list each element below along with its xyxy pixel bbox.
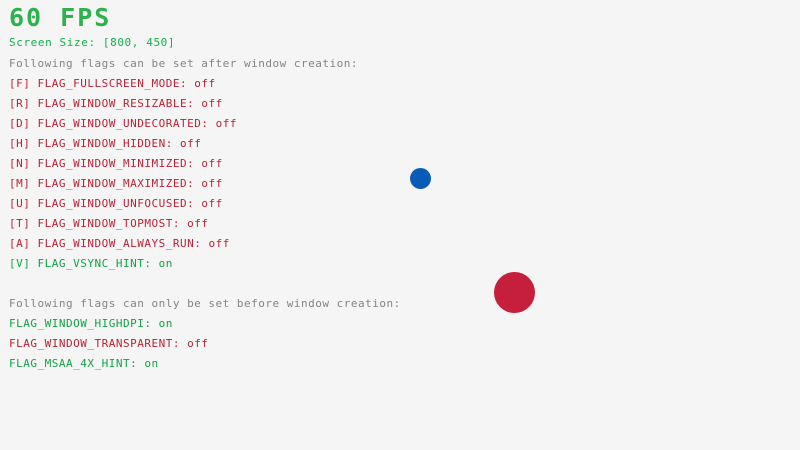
app-window: 60 FPS Screen Size: [800, 450] Following… <box>0 0 800 450</box>
flag-row[interactable]: [A] FLAG_WINDOW_ALWAYS_RUN: off <box>9 238 230 250</box>
flag-row[interactable]: [V] FLAG_VSYNC_HINT: on <box>9 258 173 270</box>
flag-name: FLAG_WINDOW_HIDDEN: <box>38 137 173 150</box>
flag-row[interactable]: FLAG_WINDOW_HIGHDPI: on <box>9 318 173 330</box>
section-header-after-creation: Following flags can be set after window … <box>9 58 358 70</box>
flag-key: [T] <box>9 217 38 230</box>
flag-row[interactable]: FLAG_WINDOW_TRANSPARENT: off <box>9 338 208 350</box>
flag-key: [A] <box>9 237 38 250</box>
flag-name: FLAG_VSYNC_HINT: <box>38 257 152 270</box>
flag-row[interactable]: [N] FLAG_WINDOW_MINIMIZED: off <box>9 158 223 170</box>
flag-state: off <box>180 337 209 350</box>
flag-name: FLAG_WINDOW_TOPMOST: <box>38 217 180 230</box>
fps-counter: 60 FPS <box>9 5 111 30</box>
flag-name: FLAG_MSAA_4X_HINT: <box>9 357 137 370</box>
flag-name: FLAG_WINDOW_MINIMIZED: <box>38 157 195 170</box>
flag-row[interactable]: [T] FLAG_WINDOW_TOPMOST: off <box>9 218 208 230</box>
screen-size-label: Screen Size: [800, 450] <box>9 37 175 49</box>
flag-name: FLAG_WINDOW_UNDECORATED: <box>38 117 209 130</box>
flag-key: [M] <box>9 177 38 190</box>
flag-state: off <box>180 217 209 230</box>
flag-state: off <box>201 237 230 250</box>
ball-blue <box>410 168 431 189</box>
flag-state: on <box>151 257 172 270</box>
flag-state: off <box>194 197 223 210</box>
flag-name: FLAG_WINDOW_ALWAYS_RUN: <box>38 237 202 250</box>
flag-row[interactable]: [M] FLAG_WINDOW_MAXIMIZED: off <box>9 178 223 190</box>
flag-name: FLAG_WINDOW_UNFOCUSED: <box>38 197 195 210</box>
flag-key: [D] <box>9 117 38 130</box>
flag-key: [V] <box>9 257 38 270</box>
flag-row[interactable]: [F] FLAG_FULLSCREEN_MODE: off <box>9 78 216 90</box>
flag-key: [U] <box>9 197 38 210</box>
flag-state: off <box>194 177 223 190</box>
flag-name: FLAG_WINDOW_TRANSPARENT: <box>9 337 180 350</box>
flag-name: FLAG_WINDOW_HIGHDPI: <box>9 317 151 330</box>
flag-name: FLAG_FULLSCREEN_MODE: <box>38 77 188 90</box>
flag-name: FLAG_WINDOW_RESIZABLE: <box>38 97 195 110</box>
flag-key: [F] <box>9 77 38 90</box>
flag-row[interactable]: [U] FLAG_WINDOW_UNFOCUSED: off <box>9 198 223 210</box>
flag-row[interactable]: [H] FLAG_WINDOW_HIDDEN: off <box>9 138 201 150</box>
flag-state: off <box>173 137 202 150</box>
flag-row[interactable]: [D] FLAG_WINDOW_UNDECORATED: off <box>9 118 237 130</box>
flag-state: on <box>151 317 172 330</box>
flag-key: [N] <box>9 157 38 170</box>
flag-key: [H] <box>9 137 38 150</box>
flag-state: off <box>194 97 223 110</box>
flag-state: off <box>194 157 223 170</box>
flag-state: on <box>137 357 158 370</box>
section-header-before-creation: Following flags can only be set before w… <box>9 298 401 310</box>
flag-state: off <box>187 77 216 90</box>
flag-state: off <box>208 117 237 130</box>
flag-row[interactable]: FLAG_MSAA_4X_HINT: on <box>9 358 159 370</box>
flag-key: [R] <box>9 97 38 110</box>
flag-row[interactable]: [R] FLAG_WINDOW_RESIZABLE: off <box>9 98 223 110</box>
ball-red <box>494 272 535 313</box>
flag-name: FLAG_WINDOW_MAXIMIZED: <box>38 177 195 190</box>
